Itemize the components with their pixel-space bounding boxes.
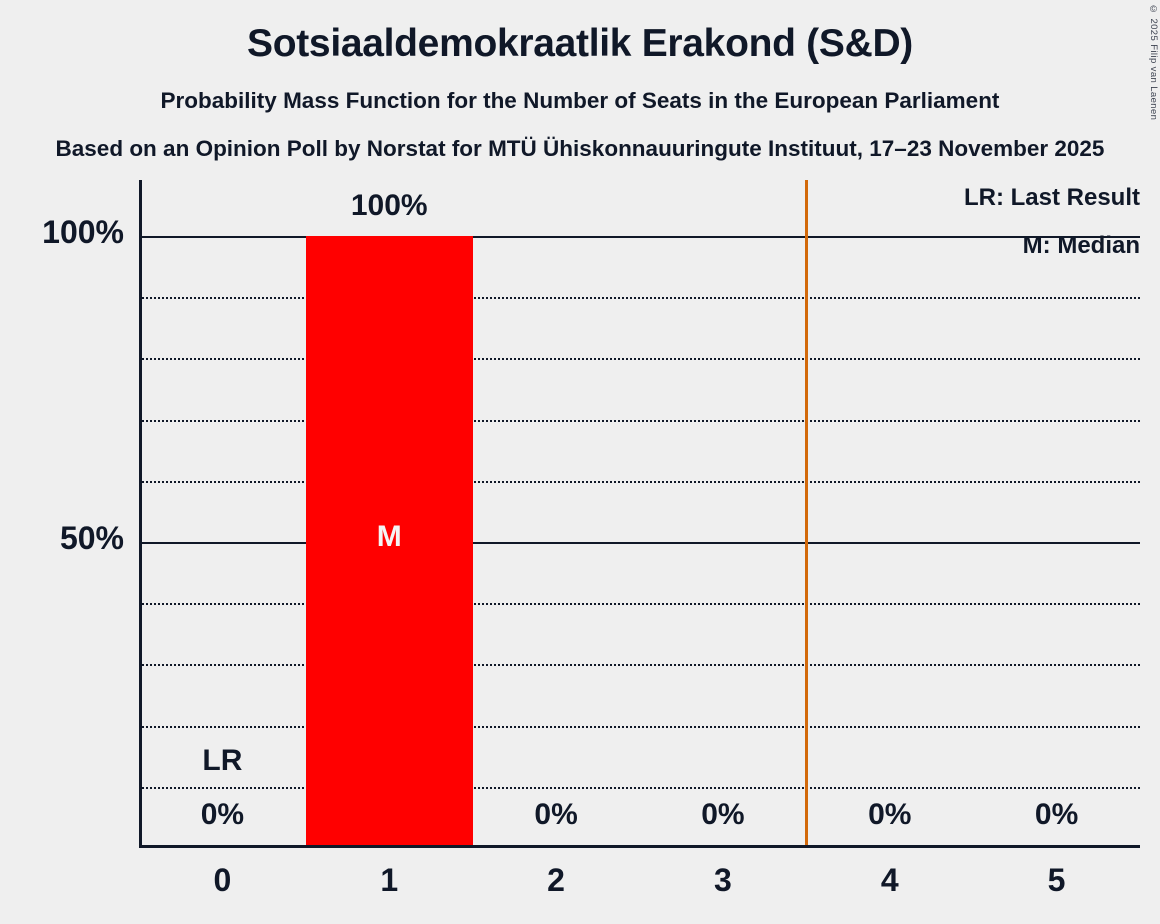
bar-value-label: 100% <box>306 189 473 223</box>
bar-value-label: 0% <box>139 798 306 832</box>
bar-slot[interactable]: 0% <box>640 180 807 848</box>
bar-slot[interactable]: 0% <box>973 180 1140 848</box>
chart-plot-area: 0%LR100%M0%0%0%0% <box>139 180 1140 848</box>
bar-slot[interactable]: 0%LR <box>139 180 306 848</box>
y-axis-tick-label: 100% <box>42 214 124 251</box>
x-axis-tick-label: 0 <box>139 862 306 899</box>
y-axis-tick-label: 50% <box>60 520 124 557</box>
x-axis-tick-label: 1 <box>306 862 473 899</box>
bar-slot[interactable]: 0% <box>473 180 640 848</box>
last-result-marker: LR <box>139 744 306 778</box>
bar-value-label: 0% <box>473 798 640 832</box>
bar-slot[interactable]: 0% <box>806 180 973 848</box>
bar-slot[interactable]: 100%M <box>306 180 473 848</box>
x-axis-tick-label: 2 <box>473 862 640 899</box>
bar-value-label: 0% <box>973 798 1140 832</box>
x-axis-tick-label: 5 <box>973 862 1140 899</box>
bar-value-label: 0% <box>640 798 807 832</box>
chart-source-note: Based on an Opinion Poll by Norstat for … <box>0 136 1160 162</box>
chart-subtitle: Probability Mass Function for the Number… <box>0 88 1160 114</box>
page-title: Sotsiaaldemokraatlik Erakond (S&D) <box>0 22 1160 66</box>
x-axis-tick-label: 4 <box>806 862 973 899</box>
x-axis-line <box>139 845 1140 848</box>
median-marker: M <box>306 520 473 554</box>
y-axis-line <box>139 180 142 848</box>
x-axis-tick-label: 3 <box>640 862 807 899</box>
bar-series: 0%LR100%M0%0%0%0% <box>139 180 1140 848</box>
threshold-line <box>805 180 808 848</box>
bar-value-label: 0% <box>806 798 973 832</box>
